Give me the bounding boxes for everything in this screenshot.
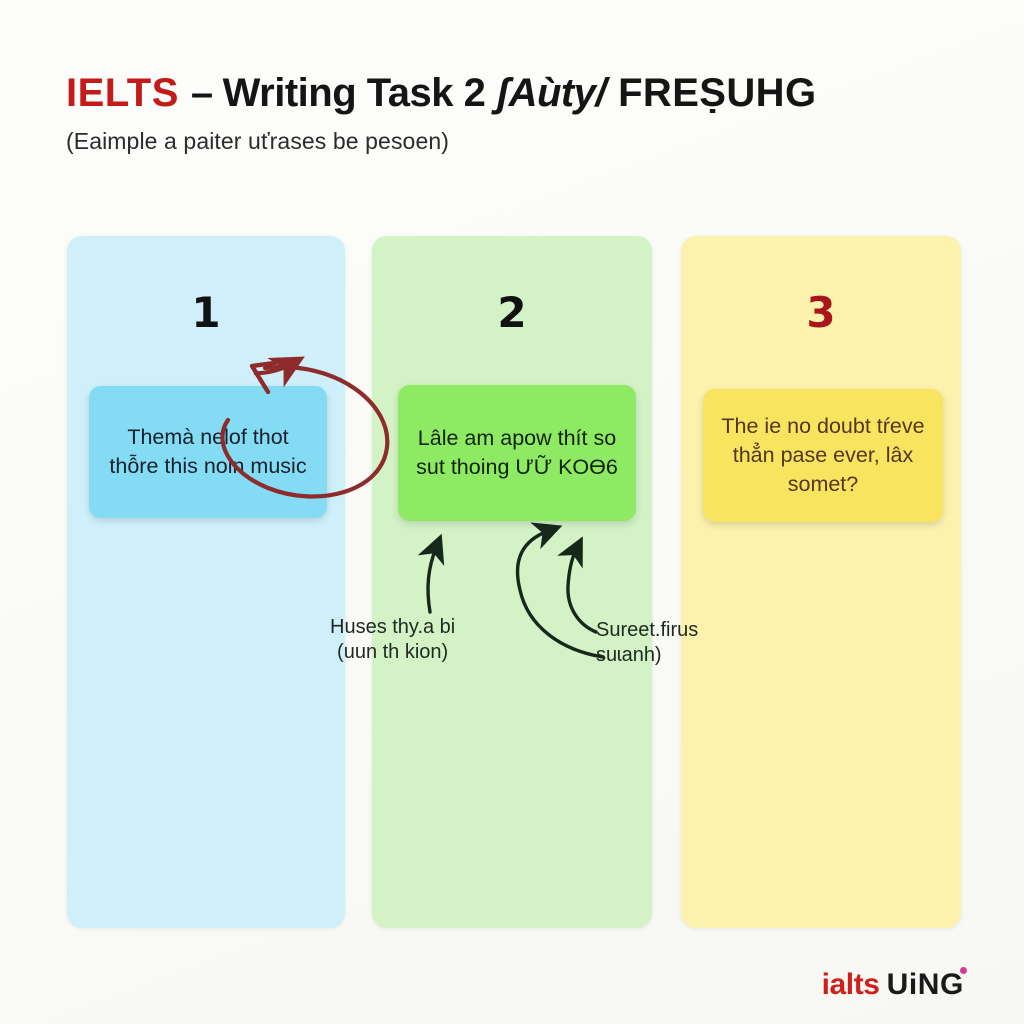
statement-box-1[interactable]: Themà nelof thot thỗre this noin music bbox=[89, 386, 327, 518]
logo-text-secondary: UiNG bbox=[887, 968, 964, 1001]
logo-text-primary: ialts bbox=[822, 968, 880, 1001]
brand-logo[interactable]: ialtsUiNG bbox=[822, 970, 964, 1000]
infographic-canvas: IELTS–Writing Task 2ʃAùty/FREṢUHG (Eaimp… bbox=[0, 0, 1024, 1024]
column-number-1: 1 bbox=[67, 292, 345, 334]
annotation-left-line2: (uun th kion) bbox=[330, 640, 455, 665]
title-ipa: ʃAùty/ bbox=[496, 71, 606, 115]
column-card-2[interactable]: 2 Lâle am apow thít so sut thoing ƯỮ KOϴ… bbox=[372, 236, 652, 928]
statement-box-3[interactable]: The ie no doubt tŕeve thẳn pase ever, lâ… bbox=[703, 389, 943, 522]
page-subtitle: (Eaimple a paiter uťrases be pesoen) bbox=[66, 128, 966, 155]
title-main: Writing Task 2 bbox=[223, 71, 486, 115]
statement-box-2[interactable]: Lâle am apow thít so sut thoing ƯỮ KOϴ6 bbox=[398, 385, 636, 521]
title-tail: FREṢUHG bbox=[618, 71, 816, 115]
annotation-left: Huses thy.a bi (uun th kion) bbox=[330, 615, 455, 665]
column-group: 1 Themà nelof thot thỗre this noin music… bbox=[0, 236, 1024, 928]
column-card-1[interactable]: 1 Themà nelof thot thỗre this noin music bbox=[67, 236, 345, 928]
header: IELTS–Writing Task 2ʃAùty/FREṢUHG (Eaimp… bbox=[66, 72, 966, 155]
column-card-3[interactable]: 3 The ie no doubt tŕeve thẳn pase ever, … bbox=[681, 236, 961, 928]
title-brand: IELTS bbox=[66, 71, 179, 115]
annotation-right: Sureet.firus suɩanh) bbox=[596, 618, 698, 668]
title-dash: – bbox=[191, 71, 213, 115]
logo-accent-dot-icon bbox=[960, 967, 967, 974]
annotation-left-line1: Huses thy.a bi bbox=[330, 616, 455, 638]
column-number-2: 2 bbox=[372, 292, 652, 334]
page-title: IELTS–Writing Task 2ʃAùty/FREṢUHG bbox=[66, 72, 966, 114]
annotation-right-line2: suɩanh) bbox=[596, 643, 698, 668]
column-number-3: 3 bbox=[681, 292, 961, 334]
annotation-right-line1: Sureet.firus bbox=[596, 619, 698, 641]
